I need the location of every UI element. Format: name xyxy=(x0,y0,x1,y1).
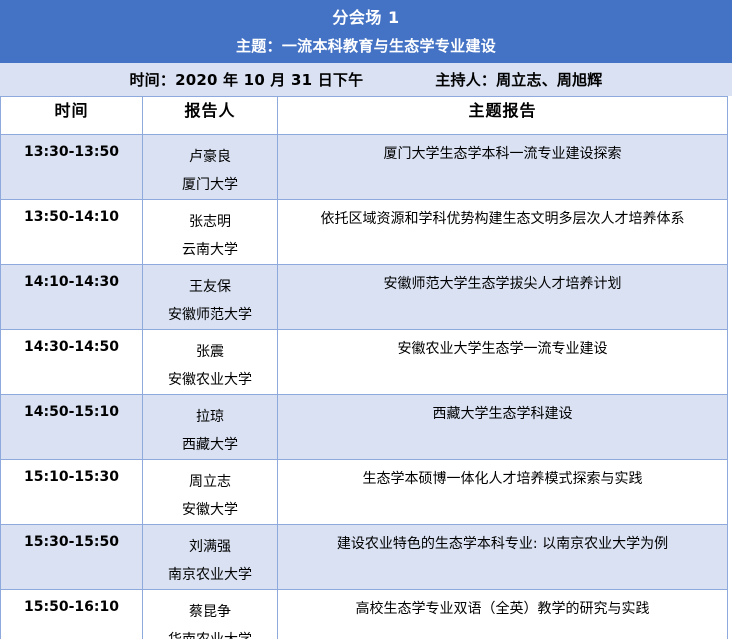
cell-topic: 高校生态学专业双语（全英）教学的研究与实践 xyxy=(278,590,728,639)
speaker-name: 蔡昆争 xyxy=(143,598,277,626)
speaker-name: 张震 xyxy=(143,338,277,366)
speaker-organization: 安徽农业大学 xyxy=(143,366,277,394)
cell-time: 15:10-15:30 xyxy=(1,460,143,525)
speaker-organization: 南京农业大学 xyxy=(143,561,277,589)
speaker-name: 拉琼 xyxy=(143,403,277,431)
cell-time: 15:50-16:10 xyxy=(1,590,143,639)
speaker-name: 刘满强 xyxy=(143,533,277,561)
speaker-name: 周立志 xyxy=(143,468,277,496)
table-row: 15:10-15:30周立志安徽大学生态学本硕博一体化人才培养模式探索与实践 xyxy=(1,460,728,525)
table-row: 13:30-13:50卢豪良厦门大学厦门大学生态学本科一流专业建设探索 xyxy=(1,135,728,200)
cell-speaker: 卢豪良厦门大学 xyxy=(143,135,278,200)
column-header-speaker: 报告人 xyxy=(143,97,278,135)
cell-speaker: 蔡昆争华南农业大学 xyxy=(143,590,278,639)
cell-topic: 安徽农业大学生态学一流专业建设 xyxy=(278,330,728,395)
session-title: 分会场 1 xyxy=(332,8,399,28)
table-row: 14:30-14:50张震安徽农业大学安徽农业大学生态学一流专业建设 xyxy=(1,330,728,395)
speaker-organization: 厦门大学 xyxy=(143,171,277,199)
schedule-table-body: 13:30-13:50卢豪良厦门大学厦门大学生态学本科一流专业建设探索13:50… xyxy=(1,135,728,639)
cell-topic: 厦门大学生态学本科一流专业建设探索 xyxy=(278,135,728,200)
conference-schedule-page: 分会场 1 主题：一流本科教育与生态学专业建设 时间：2020 年 10 月 3… xyxy=(0,0,732,639)
table-header-row: 时间 报告人 主题报告 xyxy=(1,97,728,135)
column-header-topic: 主题报告 xyxy=(278,97,728,135)
cell-speaker: 周立志安徽大学 xyxy=(143,460,278,525)
cell-time: 13:50-14:10 xyxy=(1,200,143,265)
session-banner: 分会场 1 主题：一流本科教育与生态学专业建设 xyxy=(0,0,732,63)
table-row: 14:50-15:10拉琼西藏大学西藏大学生态学科建设 xyxy=(1,395,728,460)
cell-time: 14:30-14:50 xyxy=(1,330,143,395)
schedule-table-head: 时间 报告人 主题报告 xyxy=(1,97,728,135)
speaker-organization: 华南农业大学 xyxy=(143,626,277,639)
cell-speaker: 王友保安徽师范大学 xyxy=(143,265,278,330)
speaker-name: 卢豪良 xyxy=(143,143,277,171)
speaker-organization: 云南大学 xyxy=(143,236,277,264)
speaker-organization: 安徽大学 xyxy=(143,496,277,524)
cell-time: 14:10-14:30 xyxy=(1,265,143,330)
speaker-organization: 西藏大学 xyxy=(143,431,277,459)
cell-topic: 依托区域资源和学科优势构建生态文明多层次人才培养体系 xyxy=(278,200,728,265)
speaker-name: 王友保 xyxy=(143,273,277,301)
session-datetime: 时间：2020 年 10 月 31 日下午 xyxy=(129,69,363,90)
table-row: 14:10-14:30王友保安徽师范大学安徽师范大学生态学拔尖人才培养计划 xyxy=(1,265,728,330)
table-row: 15:50-16:10蔡昆争华南农业大学高校生态学专业双语（全英）教学的研究与实… xyxy=(1,590,728,639)
cell-topic: 建设农业特色的生态学本科专业: 以南京农业大学为例 xyxy=(278,525,728,590)
table-row: 15:30-15:50刘满强南京农业大学建设农业特色的生态学本科专业: 以南京农… xyxy=(1,525,728,590)
speaker-name: 张志明 xyxy=(143,208,277,236)
schedule-table: 时间 报告人 主题报告 13:30-13:50卢豪良厦门大学厦门大学生态学本科一… xyxy=(0,96,728,639)
cell-time: 13:30-13:50 xyxy=(1,135,143,200)
cell-speaker: 拉琼西藏大学 xyxy=(143,395,278,460)
cell-speaker: 刘满强南京农业大学 xyxy=(143,525,278,590)
session-info-strip: 时间：2020 年 10 月 31 日下午 主持人：周立志、周旭辉 xyxy=(0,63,732,96)
cell-topic: 生态学本硕博一体化人才培养模式探索与实践 xyxy=(278,460,728,525)
cell-time: 14:50-15:10 xyxy=(1,395,143,460)
cell-topic: 西藏大学生态学科建设 xyxy=(278,395,728,460)
cell-time: 15:30-15:50 xyxy=(1,525,143,590)
cell-speaker: 张震安徽农业大学 xyxy=(143,330,278,395)
speaker-organization: 安徽师范大学 xyxy=(143,301,277,329)
cell-speaker: 张志明云南大学 xyxy=(143,200,278,265)
column-header-time: 时间 xyxy=(1,97,143,135)
session-hosts: 主持人：周立志、周旭辉 xyxy=(435,69,602,90)
table-row: 13:50-14:10张志明云南大学依托区域资源和学科优势构建生态文明多层次人才… xyxy=(1,200,728,265)
session-subtitle: 主题：一流本科教育与生态学专业建设 xyxy=(236,36,496,56)
cell-topic: 安徽师范大学生态学拔尖人才培养计划 xyxy=(278,265,728,330)
